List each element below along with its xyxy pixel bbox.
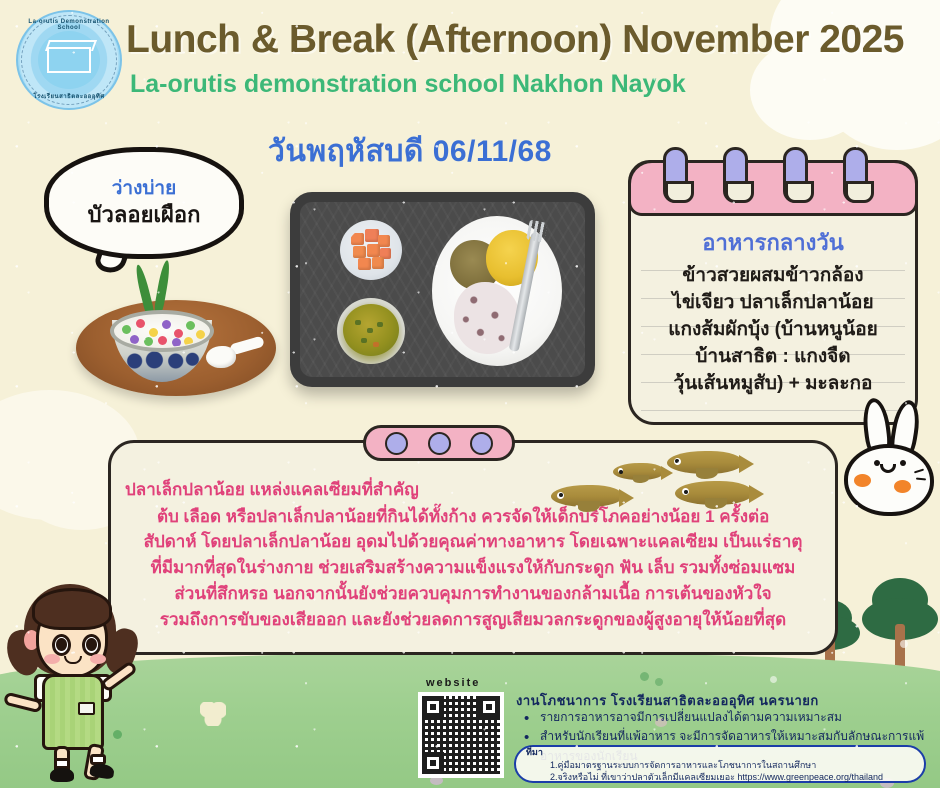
decorative-flower <box>200 702 226 726</box>
small-fish <box>675 481 753 505</box>
tab-dot-icon <box>385 432 408 455</box>
poster-canvas: La-orutis Demonstration School โรงเรียนส… <box>0 0 940 788</box>
school-logo: La-orutis Demonstration School โรงเรียนส… <box>16 10 122 110</box>
tab-dot-icon <box>428 432 451 455</box>
small-fish <box>551 485 623 507</box>
lunch-item: วุ้นเส้นหมูสับ) + มะละกอ <box>641 371 905 398</box>
logo-text-top: La-orutis Demonstration School <box>18 19 120 31</box>
small-fish <box>667 451 743 474</box>
source-label: ที่มา <box>526 745 543 759</box>
decorative-dot <box>640 672 649 681</box>
decorative-dot <box>655 678 663 686</box>
page-title: Lunch & Break (Afternoon) November 2025 <box>126 18 904 62</box>
lunch-tray-photo <box>290 192 595 387</box>
binder-ring <box>783 147 808 203</box>
website-label: website <box>426 677 480 689</box>
info-line: สัปดาห์ โดยปลาเล็กปลาน้อย อุดมไปด้วยคุณค… <box>125 529 821 555</box>
binder-ring <box>663 147 688 203</box>
decorative-dot <box>900 640 908 648</box>
lunch-title: อาหารกลางวัน <box>641 225 905 260</box>
break-heading: ว่างบ่าย <box>112 177 176 201</box>
main-dish-plate <box>432 216 562 366</box>
lunch-item: แกงส้มผักบุ้ง (บ้านหนูน้อย <box>641 317 905 344</box>
fish-illustration-group <box>551 457 801 519</box>
lunch-menu-panel: อาหารกลางวัน ข้าวสวยผสมข้าวกล้อง ไข่เจีย… <box>628 160 918 425</box>
schoolgirl-mascot <box>6 578 138 784</box>
date-label: วันพฤหัสบดี 06/11/68 <box>268 128 552 175</box>
info-line: ส่วนที่สึกหรอ นอกจากนั้นยังช่วยควบคุมการ… <box>125 581 821 607</box>
uniform-badge <box>78 702 95 715</box>
bua-loy-dessert-photo <box>106 298 218 382</box>
spoon-icon <box>206 336 264 370</box>
soup-bowl <box>337 298 405 364</box>
footer-note: รายการอาหารอาจมีการเปลี่ยนแปลงได้ตามความ… <box>520 708 940 727</box>
source-line: 2.จริงหรือไม่ ที่เขาว่าปลาตัวเล็กมีแคลเซ… <box>550 770 883 784</box>
qr-code[interactable] <box>418 692 504 778</box>
bunny-mascot <box>840 398 938 520</box>
tab-dot-icon <box>470 432 493 455</box>
binder-ring <box>723 147 748 203</box>
lunch-item: บ้านสาธิต : แกงจืด <box>641 344 905 371</box>
source-box: ที่มา 1.คู่มือมาตรฐานระบบการจัดการอาหารแ… <box>514 745 926 783</box>
info-line: ที่มีมากที่สุดในร่างกาย ช่วยเสริมสร้างคว… <box>125 555 821 581</box>
break-speech-bubble: ว่างบ่าย บัวลอยเผือก <box>44 147 244 259</box>
break-item: บัวลอยเผือก <box>88 201 201 230</box>
nutrition-info-panel: ปลาเล็กปลาน้อย แหล่งแคลเซียมที่สำคัญ ต้บ… <box>108 440 838 655</box>
decorative-dot <box>770 676 777 683</box>
lunch-item: ข้าวสวยผสมข้าวกล้อง <box>641 263 905 290</box>
page-subtitle: La-orutis demonstration school Nakhon Na… <box>130 70 686 99</box>
binder-ring <box>843 147 868 203</box>
papaya-bowl <box>340 220 402 280</box>
logo-text-bottom: โรงเรียนสาธิตละอออุทิศ <box>18 91 120 101</box>
lunch-item: ไข่เจียว ปลาเล็กปลาน้อย <box>641 290 905 317</box>
info-line: รวมถึงการขับของเสียออก และยังช่วยลดการสู… <box>125 607 821 633</box>
small-fish <box>613 463 665 480</box>
tree-icon <box>858 578 940 670</box>
panel-tab-bar <box>363 425 515 461</box>
